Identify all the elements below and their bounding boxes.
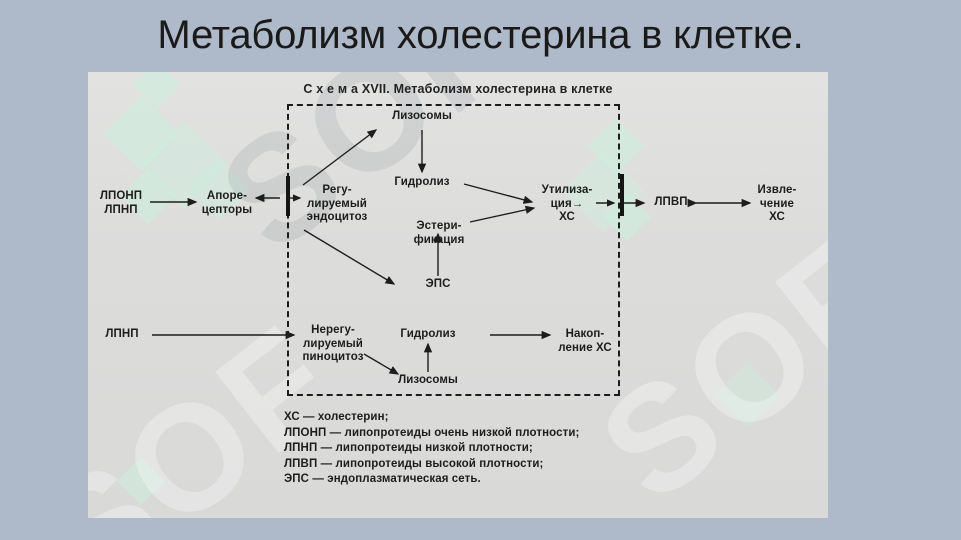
node-hydrolysis-low: Гидролиз — [386, 328, 470, 342]
legend-item: ЛПВП — липопротеиды высокой плотности; — [284, 457, 804, 473]
node-extraction-hs: Извле- чение ХС — [750, 184, 804, 225]
slide: Метаболизм холестерина в клетке. SOF SOF… — [0, 0, 961, 540]
node-hydrolysis-top: Гидролиз — [380, 176, 464, 190]
node-accumulation-hs: Накоп- ление ХС — [550, 328, 620, 355]
node-regulated-endocytosis: Регу- лируемый эндоцитоз — [298, 184, 376, 225]
legend-item: ЛПОНП — липопротеиды очень низкой плотно… — [284, 426, 804, 442]
legend-item: ЛПНП — липопротеиды низкой плотности; — [284, 441, 804, 457]
arrow-endocytosis-to-eps — [304, 230, 394, 284]
node-lpnp-low: ЛПНП — [92, 328, 152, 342]
node-eps: ЭПС — [408, 278, 468, 292]
node-lpvp: ЛПВП — [646, 196, 696, 210]
scheme-image-panel: SOF SOF SOF С х е м а XVII. Метаболизм х… — [88, 72, 828, 518]
node-lponp-lpnp: ЛПОНП ЛПНП — [92, 190, 150, 217]
arrow-endocytosis-to-lysosomes — [303, 130, 376, 185]
node-aporeceptors: Апоре- цепторы — [198, 190, 256, 217]
legend-item: ХС — холестерин; — [284, 410, 804, 426]
node-utilization-hs: Утилиза- ция→ ХС — [536, 184, 598, 225]
arrow-hydrolysis-to-utilization — [464, 184, 532, 202]
arrow-esterification-to-utilization — [470, 208, 534, 222]
node-lysosomes-low: Лизосомы — [386, 374, 470, 388]
legend-item: ЭПС — эндоплазматическая сеть. — [284, 472, 804, 488]
node-unregulated-pinocytosis: Нерегу- лируемый пиноцитоз — [294, 324, 372, 365]
node-esterification: Эстери- фикация — [406, 220, 472, 247]
node-lysosomes-top: Лизосомы — [380, 110, 464, 124]
legend: ХС — холестерин; ЛПОНП — липопротеиды оч… — [284, 410, 804, 488]
page-title: Метаболизм холестерина в клетке. — [0, 8, 961, 62]
